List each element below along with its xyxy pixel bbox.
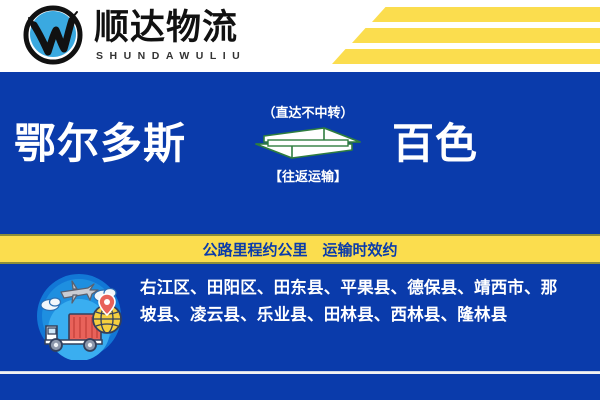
brand-name-en: SHUNDAWULIU [96, 49, 246, 63]
banner-footer [0, 374, 600, 400]
stripe-1 [372, 7, 600, 22]
route-section: 鄂尔多斯 （直达不中转） 【往返运输】 百色 [0, 72, 600, 236]
brand-name-cn: 顺达物流 [94, 8, 246, 48]
banner-header: 顺达物流 SHUNDAWULIU [0, 0, 600, 72]
bidirectional-arrow-icon [228, 126, 388, 160]
coverage-section: 右江区、田阳区、田东县、平果县、德保县、靖西市、那 坡县、凌云县、乐业县、田林县… [0, 266, 600, 366]
coverage-line-2: 坡县、凌云县、乐业县、田林县、西林县、隆林县 [140, 301, 586, 328]
coverage-line-1: 右江区、田阳区、田东县、平果县、德保县、靖西市、那 [140, 274, 586, 301]
stripe-2 [352, 28, 600, 43]
decorative-stripes [310, 0, 600, 72]
route-middle: （直达不中转） 【往返运输】 [228, 102, 388, 185]
origin-city: 鄂尔多斯 [14, 120, 186, 168]
coverage-district-list: 右江区、田阳区、田东县、平果县、德保县、靖西市、那 坡县、凌云县、乐业县、田林县… [140, 274, 586, 328]
destination-city: 百色 [392, 120, 478, 168]
logistics-route-banner: 顺达物流 SHUNDAWULIU 鄂尔多斯 （直达不中转） 【往返运输】 百色 [0, 0, 600, 400]
truck-plane-globe-icon [28, 272, 130, 360]
info-band: 公路里程约公里 运输时效约 [0, 236, 600, 262]
circle-swoosh-logo-icon [22, 4, 84, 66]
direct-route-note: （直达不中转） [228, 102, 388, 121]
brand-text: 顺达物流 SHUNDAWULIU [94, 8, 246, 63]
stripe-3 [332, 49, 600, 64]
round-trip-note: 【往返运输】 [228, 166, 388, 185]
info-band-text: 公路里程约公里 运输时效约 [202, 239, 397, 260]
band-bottom-edge [0, 262, 600, 264]
brand-logo: 顺达物流 SHUNDAWULIU [22, 4, 246, 66]
